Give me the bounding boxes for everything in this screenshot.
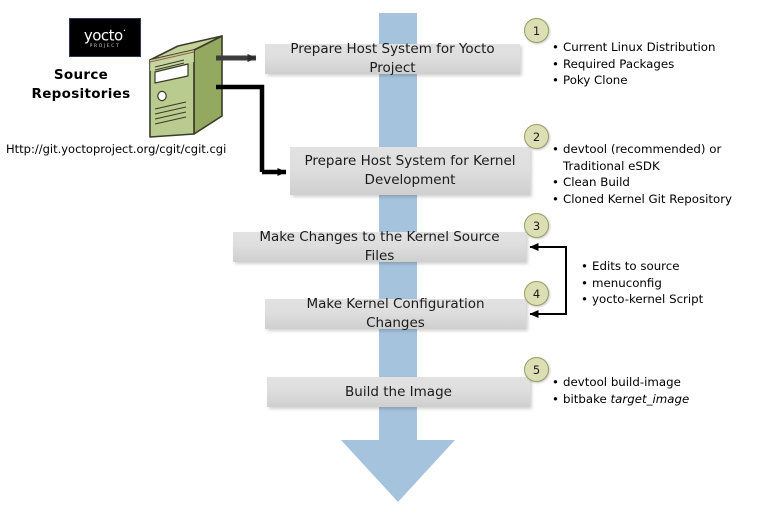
step-1-bullet-list: Current Linux Distribution Required Pack… bbox=[551, 39, 715, 89]
list-item: Current Linux Distribution bbox=[551, 39, 715, 56]
step-badge-2: 2 bbox=[524, 124, 549, 149]
process-box-step-5-label: Build the Image bbox=[345, 383, 452, 402]
source-repositories-label-line2: Repositories bbox=[22, 85, 140, 104]
step-badge-1: 1 bbox=[524, 18, 549, 43]
yocto-logo-subtitle: PROJECT bbox=[90, 45, 121, 50]
step-badge-3-number: 3 bbox=[533, 219, 540, 233]
list-item: yocto-kernel Script bbox=[580, 291, 703, 308]
main-flow-arrow-head bbox=[341, 440, 455, 502]
step-badge-3: 3 bbox=[524, 213, 549, 238]
bullet-text: menuconfig bbox=[592, 276, 662, 290]
list-item: bitbake target_image bbox=[551, 391, 689, 408]
bullet-text: Required Packages bbox=[563, 57, 674, 71]
bullet-text-continuation: Traditional eSDK bbox=[563, 158, 732, 175]
bullet-text-italic: target_image bbox=[611, 392, 690, 406]
list-item: Cloned Kernel Git Repository bbox=[551, 191, 732, 208]
step-badge-5: 5 bbox=[524, 357, 549, 382]
list-item: devtool (recommended) or Traditional eSD… bbox=[551, 141, 732, 174]
step-badge-5-number: 5 bbox=[533, 363, 540, 377]
bullet-text: Edits to source bbox=[592, 259, 680, 273]
process-box-step-1[interactable]: Prepare Host System for Yocto Project bbox=[265, 44, 520, 74]
process-box-step-3-label: Make Changes to the Kernel Source Files bbox=[243, 228, 516, 266]
list-item: Edits to source bbox=[580, 258, 703, 275]
kernel-development-flow-diagram: yocto· PROJECT Source Repositories Http:… bbox=[0, 0, 769, 517]
bullet-text: bitbake bbox=[563, 392, 611, 406]
source-repositories-label: Source Repositories bbox=[22, 66, 140, 104]
bullet-text: devtool build-image bbox=[563, 375, 681, 389]
steps-3-4-shared-bullet-list: Edits to source menuconfig yocto-kernel … bbox=[580, 258, 703, 308]
bullet-text: devtool (recommended) or bbox=[563, 142, 721, 156]
step-5-bullet-list: devtool build-image bitbake target_image bbox=[551, 374, 689, 407]
yocto-logo-dot: · bbox=[123, 24, 127, 37]
step-badge-1-number: 1 bbox=[533, 24, 540, 38]
list-item: devtool build-image bbox=[551, 374, 689, 391]
process-box-step-2-label-line1: Prepare Host System for Kernel bbox=[304, 152, 515, 171]
bullet-text: Cloned Kernel Git Repository bbox=[563, 192, 732, 206]
step-badge-4: 4 bbox=[524, 281, 549, 306]
source-repositories-label-line1: Source bbox=[22, 66, 140, 85]
source-repositories-url: Http://git.yoctoproject.org/cgit/cgit.cg… bbox=[6, 142, 226, 156]
process-box-step-2[interactable]: Prepare Host System for Kernel Developme… bbox=[290, 147, 530, 195]
process-box-step-1-label: Prepare Host System for Yocto Project bbox=[275, 40, 510, 78]
process-box-step-4[interactable]: Make Kernel Configuration Changes bbox=[265, 299, 526, 329]
list-item: Clean Build bbox=[551, 174, 732, 191]
step-badge-2-number: 2 bbox=[533, 130, 540, 144]
server-tower-icon bbox=[134, 32, 226, 142]
list-item: Required Packages bbox=[551, 56, 715, 73]
list-item: menuconfig bbox=[580, 275, 703, 292]
bullet-text: Clean Build bbox=[563, 175, 630, 189]
bullet-text: Poky Clone bbox=[563, 73, 628, 87]
step-2-bullet-list: devtool (recommended) or Traditional eSD… bbox=[551, 141, 732, 207]
list-item: Poky Clone bbox=[551, 72, 715, 89]
process-box-step-5[interactable]: Build the Image bbox=[267, 377, 530, 407]
bullet-text: Current Linux Distribution bbox=[563, 40, 715, 54]
yocto-project-logo: yocto· PROJECT bbox=[69, 18, 141, 57]
process-box-step-2-label-line2: Development bbox=[365, 171, 456, 190]
process-box-step-3[interactable]: Make Changes to the Kernel Source Files bbox=[233, 232, 526, 262]
yocto-logo-word: yocto bbox=[84, 26, 123, 44]
bullet-text: yocto-kernel Script bbox=[592, 292, 703, 306]
process-box-step-4-label: Make Kernel Configuration Changes bbox=[275, 295, 516, 333]
step-badge-4-number: 4 bbox=[533, 287, 540, 301]
